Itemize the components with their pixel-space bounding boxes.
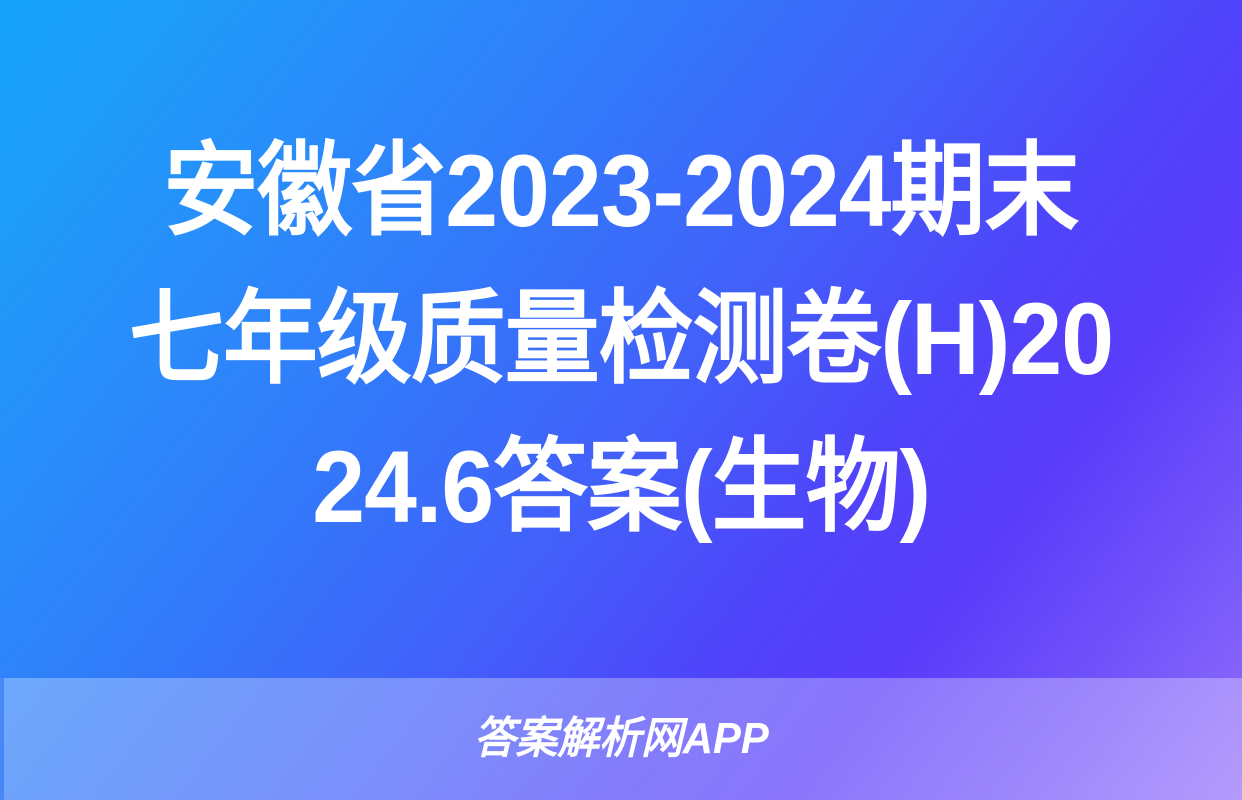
headline-line-2: 七年级质量检测卷(H)20 xyxy=(129,265,1113,413)
poster-canvas: 安徽省2023-2024期末 七年级质量检测卷(H)20 24.6答案(生物) … xyxy=(0,0,1242,800)
headline-line-3: 24.6答案(生物) xyxy=(312,413,930,561)
headline-line-1: 安徽省2023-2024期末 xyxy=(164,117,1079,265)
watermark-container: 答案解析网APP xyxy=(0,678,1242,800)
headline-block: 安徽省2023-2024期末 七年级质量检测卷(H)20 24.6答案(生物) xyxy=(0,0,1242,678)
watermark-label: 答案解析网APP xyxy=(474,717,769,761)
